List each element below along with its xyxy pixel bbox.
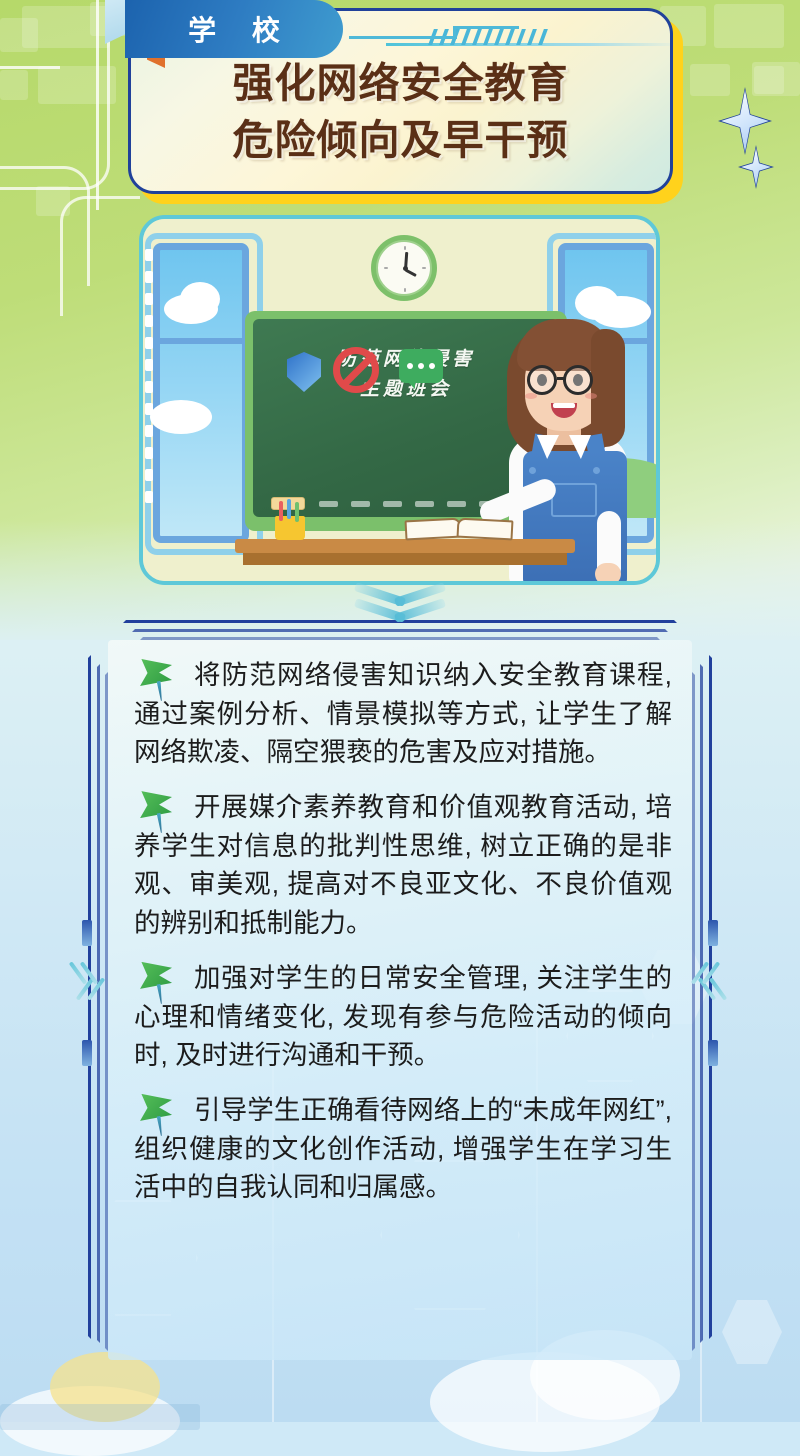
teacher-cheek bbox=[585, 393, 597, 399]
bg-rect bbox=[690, 64, 730, 96]
chalk-tray bbox=[319, 501, 499, 507]
frame-tick-left bbox=[82, 920, 92, 946]
bg-circuit-line bbox=[60, 196, 140, 316]
content-paragraph: 加强对学生的日常安全管理, 关注学生的心理和情绪变化, 发现有参与危险活动的倾向… bbox=[134, 959, 672, 1075]
green-pushpin-icon bbox=[136, 1094, 178, 1134]
glasses-icon bbox=[563, 365, 593, 395]
chat-bubble-icon bbox=[399, 349, 443, 383]
no-entry-icon bbox=[333, 347, 379, 393]
frame-tick-left bbox=[82, 1040, 92, 1066]
section-divider-chevrons bbox=[0, 590, 800, 634]
wall-clock-face bbox=[376, 240, 432, 296]
teacher-desk-shadow bbox=[243, 553, 567, 565]
bg-rect bbox=[754, 66, 784, 94]
teacher-button bbox=[529, 467, 536, 474]
content-paragraph: 引导学生正确看待网络上的“未成年网红”, 组织健康的文化创作活动, 增强学生在学… bbox=[134, 1091, 672, 1207]
bg-circuit-line bbox=[0, 20, 110, 190]
teacher-desk bbox=[235, 539, 575, 553]
chevron-down-icon bbox=[354, 606, 446, 628]
bg-rect bbox=[0, 1404, 200, 1430]
teacher-hand-right bbox=[595, 563, 621, 585]
category-badge-label: 学 校 bbox=[174, 9, 294, 49]
content-paragraph: 将防范网络侵害知识纳入安全教育课程, 通过案例分析、情景模拟等方式, 让学生了解… bbox=[134, 656, 672, 772]
bg-rect bbox=[714, 4, 784, 48]
paragraph-text: 将防范网络侵害知识纳入安全教育课程, 通过案例分析、情景模拟等方式, 让学生了解… bbox=[134, 660, 672, 767]
page-title: 强化网络安全教育 危险倾向及早干预 bbox=[131, 55, 670, 168]
pencil bbox=[287, 499, 291, 519]
chevron-right-icon bbox=[76, 960, 102, 1000]
paragraph-text: 加强对学生的日常安全管理, 关注学生的心理和情绪变化, 发现有参与危险活动的倾向… bbox=[134, 963, 672, 1070]
content-frame: 将防范网络侵害知识纳入安全教育课程, 通过案例分析、情景模拟等方式, 让学生了解… bbox=[88, 620, 712, 1388]
pencil bbox=[279, 501, 283, 521]
frame-tick-right bbox=[708, 1040, 718, 1066]
paragraph-text: 开展媒介素养教育和价值观教育活动, 培养学生对信息的批判性思维, 树立正确的是非… bbox=[134, 792, 672, 938]
bg-circuit-line bbox=[0, 66, 60, 69]
window-dots-decor bbox=[145, 249, 153, 539]
green-pushpin-icon bbox=[136, 659, 178, 699]
teacher-button bbox=[593, 467, 600, 474]
glasses-icon bbox=[527, 365, 557, 395]
glasses-bridge bbox=[557, 377, 565, 380]
teacher-cheek bbox=[525, 393, 537, 399]
teacher-hair-side bbox=[591, 329, 625, 447]
green-pushpin-icon bbox=[136, 962, 178, 1002]
content-paragraph-list: 将防范网络侵害知识纳入安全教育课程, 通过案例分析、情景模拟等方式, 让学生了解… bbox=[134, 656, 672, 1223]
teacher-pocket bbox=[551, 483, 597, 517]
paragraph-text: 引导学生正确看待网络上的“未成年网红”, 组织健康的文化创作活动, 增强学生在学… bbox=[134, 1095, 672, 1202]
pencil bbox=[295, 502, 299, 522]
badge-tail-decor bbox=[349, 24, 519, 46]
chevron-left-icon bbox=[698, 960, 724, 1000]
window-left bbox=[153, 243, 249, 543]
classroom-illustration: 防范网络侵害 主题班会 bbox=[139, 215, 660, 585]
frame-tick-right bbox=[708, 920, 718, 946]
content-paragraph: 开展媒介素养教育和价值观教育活动, 培养学生对信息的批判性思维, 树立正确的是非… bbox=[134, 788, 672, 943]
green-pushpin-icon bbox=[136, 791, 178, 831]
bg-circuit-line bbox=[96, 0, 99, 210]
open-book-icon bbox=[457, 518, 514, 541]
open-book-icon bbox=[405, 518, 462, 541]
category-badge: 学 校 bbox=[125, 0, 343, 58]
